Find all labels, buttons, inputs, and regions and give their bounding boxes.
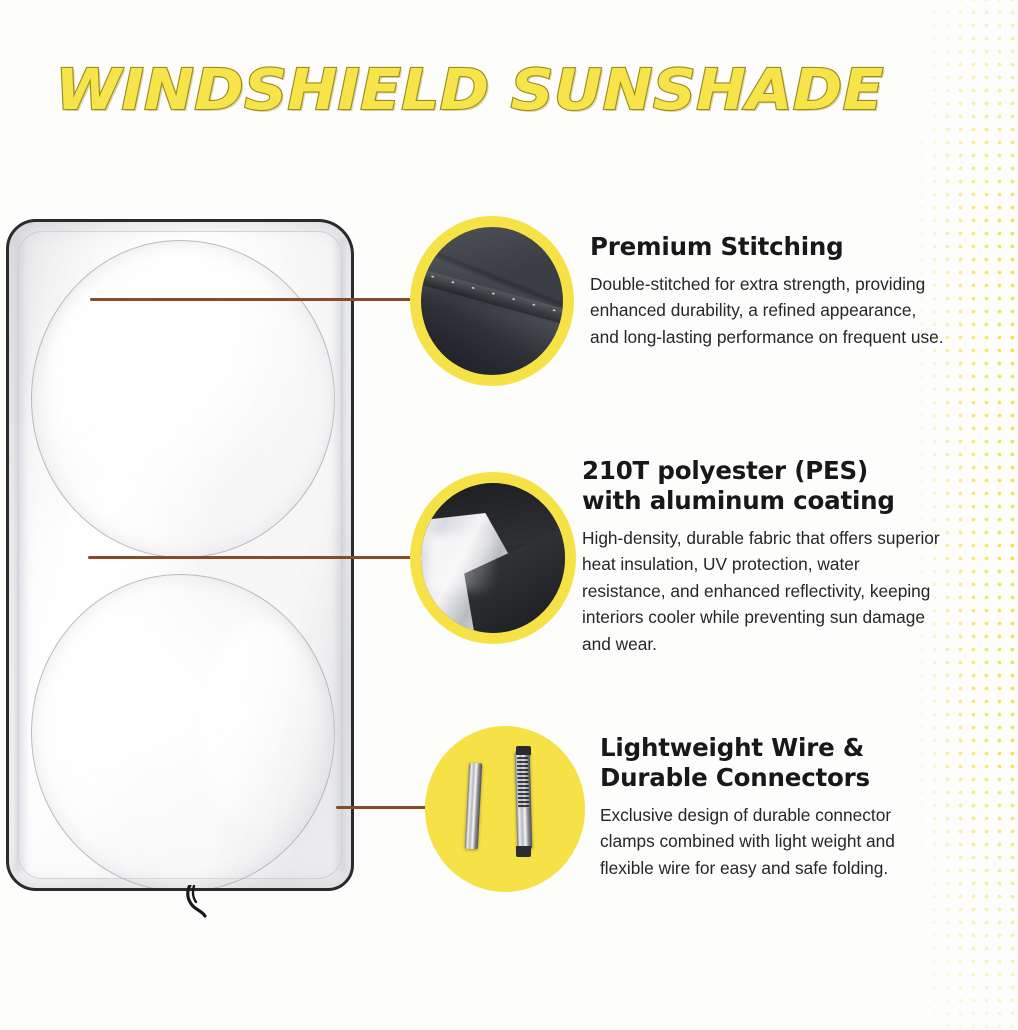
- feature-title-polyester-line2: with aluminum coating: [582, 486, 942, 516]
- connector-line-stitching: [90, 298, 414, 301]
- feature-photo-circle-polyester-coating: [410, 472, 576, 644]
- stitched-fabric-texture: [421, 227, 563, 375]
- feature-title-connectors-line1: Lightweight Wire &: [600, 733, 946, 763]
- sunshade-crease-left: [15, 238, 29, 872]
- sunshade-strap-loop: [180, 885, 214, 921]
- connector-clamp-left: [464, 762, 481, 849]
- fabric-reflective-sheen: [427, 534, 493, 591]
- product-image: [2, 205, 362, 905]
- feature-body-wire-connectors: Exclusive design of durable connector cl…: [600, 802, 930, 881]
- infographic-page: WINDSHIELD SUNSHADE Premium Sti: [0, 0, 1018, 1030]
- polyester-aluminum-photo: [421, 483, 565, 633]
- connector-clamp-cap-top: [516, 746, 531, 755]
- aluminum-coated-fabric-texture: [421, 483, 565, 633]
- feature-body-polyester-coating: High-density, durable fabric that offers…: [582, 525, 942, 657]
- connector-clamps-scene: [425, 726, 585, 892]
- sunshade-body: [6, 219, 354, 891]
- feature-title-connectors-line2: Durable Connectors: [600, 763, 946, 793]
- feature-text-wire-connectors: Lightweight Wire & Durable Connectors Ex…: [600, 733, 946, 881]
- sunshade-fold-circle-bottom: [31, 574, 335, 891]
- feature-text-polyester-coating: 210T polyester (PES) with aluminum coati…: [582, 456, 942, 657]
- feature-photo-circle-premium-stitching: [410, 216, 574, 386]
- feature-photo-circle-wire-connectors: [425, 726, 585, 892]
- connector-line-connectors: [336, 806, 428, 809]
- feature-text-premium-stitching: Premium Stitching Double-stitched for ex…: [590, 232, 946, 350]
- feature-title-premium-stitching: Premium Stitching: [590, 232, 946, 262]
- sunshade-crease-right: [331, 238, 345, 872]
- feature-body-premium-stitching: Double-stitched for extra strength, prov…: [590, 271, 946, 350]
- connector-clamp-right: [515, 751, 533, 849]
- page-title-text: WINDSHIELD SUNSHADE: [56, 58, 884, 123]
- premium-stitching-photo: [421, 227, 563, 375]
- wire-connectors-photo: [425, 726, 585, 892]
- connector-line-fabric: [88, 556, 415, 559]
- connector-clamp-cap-bottom: [516, 846, 531, 857]
- feature-title-polyester-line1: 210T polyester (PES): [582, 456, 942, 486]
- page-title: WINDSHIELD SUNSHADE: [0, 58, 940, 123]
- sunshade-fold-circle-top: [31, 240, 335, 558]
